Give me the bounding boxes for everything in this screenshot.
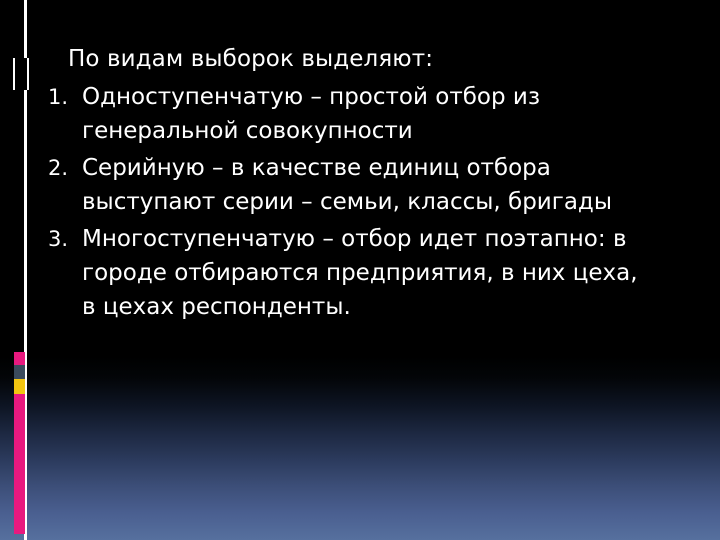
accent-segment-pink-top bbox=[14, 352, 25, 365]
list-item-marker: 2. bbox=[40, 151, 68, 185]
list-item: 3. Многоступенчатую – отбор идет поэтапн… bbox=[40, 222, 710, 324]
list-item-marker: 1. bbox=[40, 80, 68, 114]
sampling-types-list: 1. Одноступенчатую – простой отбор из ге… bbox=[40, 80, 710, 324]
list-item: 2. Серийную – в качестве единиц отбора в… bbox=[40, 151, 710, 219]
lead-paragraph: По видам выборок выделяют: bbox=[40, 44, 710, 74]
list-item-text: Многоступенчатую – отбор идет поэтапно: … bbox=[82, 222, 710, 324]
accent-segment-magenta bbox=[14, 394, 25, 534]
left-decorative-block bbox=[13, 58, 29, 90]
accent-segment-slate bbox=[14, 365, 25, 379]
list-item-marker: 3. bbox=[40, 222, 68, 256]
presentation-slide: По видам выборок выделяют: 1. Одноступен… bbox=[0, 0, 720, 540]
list-item: 1. Одноступенчатую – простой отбор из ге… bbox=[40, 80, 710, 148]
list-item-text: Серийную – в качестве единиц отбора выст… bbox=[82, 151, 710, 219]
accent-segment-gold bbox=[14, 379, 25, 394]
slide-content: По видам выборок выделяют: 1. Одноступен… bbox=[40, 44, 710, 327]
list-item-text: Одноступенчатую – простой отбор из генер… bbox=[82, 80, 710, 148]
